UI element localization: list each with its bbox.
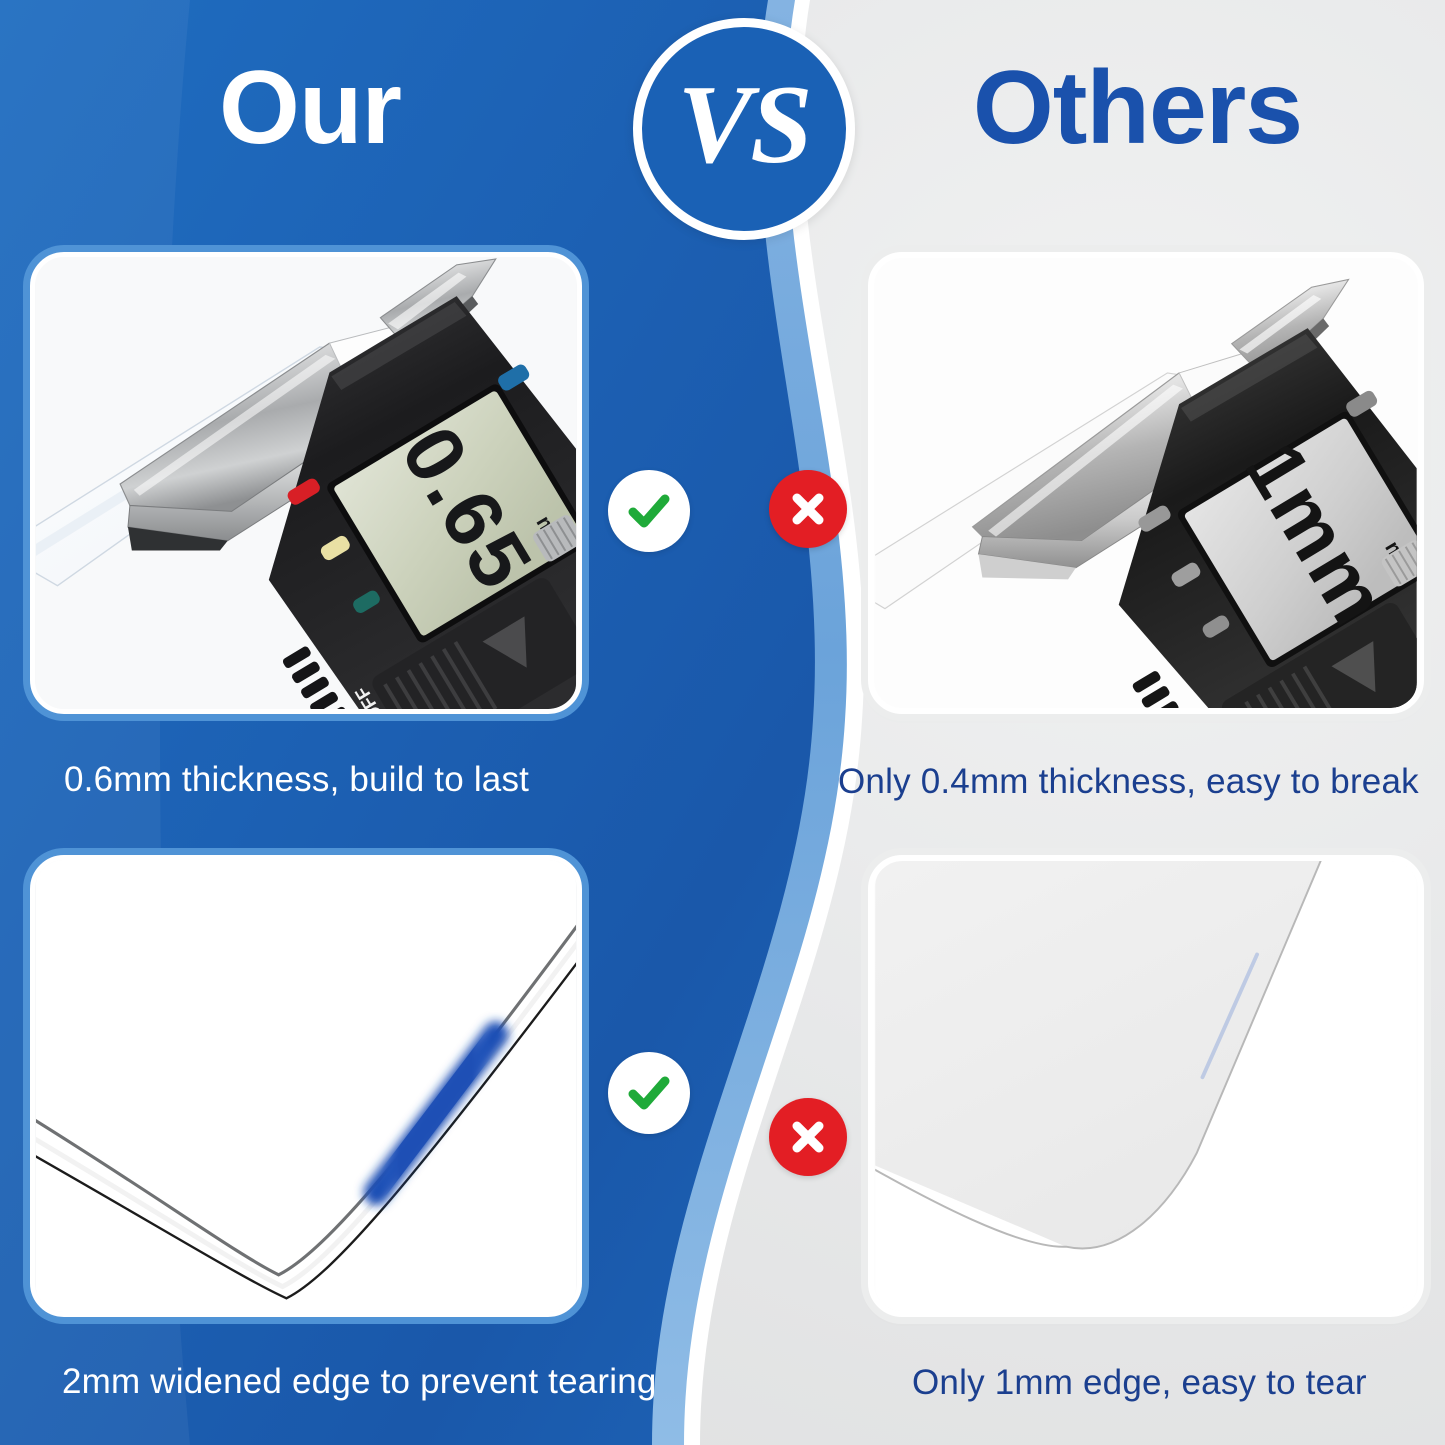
our-thickness-image-card: ProsKit — [30, 252, 582, 714]
our-edge-verdict — [608, 1052, 690, 1134]
check-icon — [608, 1052, 690, 1134]
others-header: Others — [830, 0, 1445, 215]
our-thickness-verdict — [608, 470, 690, 552]
protector-thin-edge-illustration — [874, 861, 1418, 1311]
others-thickness-caption: Only 0.4mm thickness, easy to break — [838, 762, 1419, 802]
caliper-color-illustration: ProsKit — [35, 257, 577, 709]
others-edge-caption: Only 1mm edge, easy to tear — [912, 1363, 1367, 1403]
others-thickness-image-card: 1mm mm — [868, 252, 1424, 714]
our-edge-caption: 2mm widened edge to prevent tearing — [62, 1362, 657, 1402]
our-thickness-image: ProsKit — [35, 257, 577, 709]
others-thickness-image: 1mm mm — [874, 258, 1418, 708]
others-edge-image — [874, 861, 1418, 1311]
check-icon — [608, 470, 690, 552]
close-icon — [769, 470, 847, 548]
vs-label: VS — [678, 69, 811, 181]
comparison-infographic: Our Others VS — [0, 0, 1445, 1445]
close-icon — [769, 1098, 847, 1176]
vs-badge: VS — [633, 18, 855, 240]
our-title: Our — [219, 56, 401, 160]
others-edge-image-card — [868, 855, 1424, 1317]
protector-wide-edge-illustration — [35, 860, 577, 1312]
our-thickness-caption: 0.6mm thickness, build to last — [64, 760, 529, 800]
caliper-grayscale-illustration: 1mm mm — [874, 258, 1418, 708]
our-edge-image-card — [30, 855, 582, 1317]
our-edge-image — [35, 860, 577, 1312]
our-header: Our — [0, 0, 620, 215]
others-title: Others — [973, 56, 1302, 160]
others-thickness-verdict — [769, 470, 847, 548]
others-edge-verdict — [769, 1098, 847, 1176]
